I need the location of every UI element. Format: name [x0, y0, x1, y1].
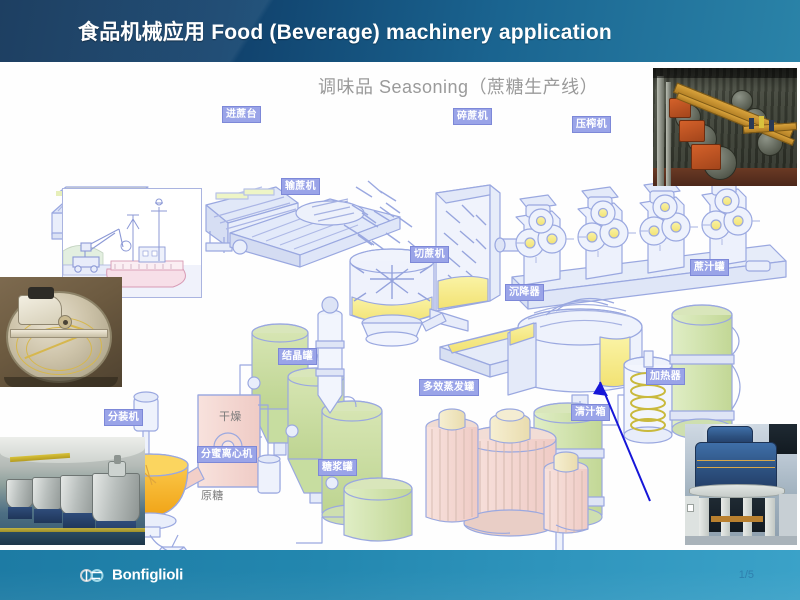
cooling-tower-photo [685, 424, 797, 545]
label-clarifier: 沉降器 [505, 284, 544, 301]
label-crystallizer: 结晶罐 [278, 348, 317, 365]
label-cane-feed-table: 进蔗台 [222, 106, 261, 123]
slide-header: 食品机械应用 Food (Beverage) machinery applica… [0, 0, 800, 62]
label-juice-tank: 蔗汁罐 [690, 259, 729, 276]
mill-hall-photo [653, 68, 797, 186]
label-heater: 加热器 [646, 368, 685, 385]
slide-body: 调味品 Seasoning（蔗糖生产线） [0, 65, 800, 550]
slide-footer: Bonfiglioli 1/5 [0, 550, 800, 600]
factory-photo [0, 437, 145, 545]
label-cane-conveyor: 输蔗机 [281, 178, 320, 195]
label-raw-sugar: 原糖 [198, 489, 227, 504]
page-title: 食品机械应用 Food (Beverage) machinery applica… [78, 16, 612, 46]
label-multi-effect-evaporator: 多效蒸发罐 [419, 379, 479, 396]
extractor-photo [0, 277, 122, 387]
brand-name: Bonfiglioli [112, 567, 183, 584]
label-centrifugal-separator: 分蜜离心机 [197, 446, 257, 463]
label-packing-machine: 分装机 [104, 409, 143, 426]
label-syrup-tank: 糖浆罐 [318, 459, 357, 476]
slide-root: 食品机械应用 Food (Beverage) machinery applica… [0, 0, 800, 600]
label-cane-cutter: 切蔗机 [410, 246, 449, 263]
label-mill-press: 压榨机 [572, 116, 611, 133]
label-dryer: 干燥 [216, 410, 245, 425]
page-number: 1/5 [739, 569, 754, 581]
label-cane-shredder: 碎蔗机 [453, 108, 492, 125]
brand-logo-group: Bonfiglioli [80, 567, 183, 584]
bonfiglioli-logo-icon [80, 567, 106, 583]
label-clear-juice-box: 清汁箱 [571, 404, 610, 421]
